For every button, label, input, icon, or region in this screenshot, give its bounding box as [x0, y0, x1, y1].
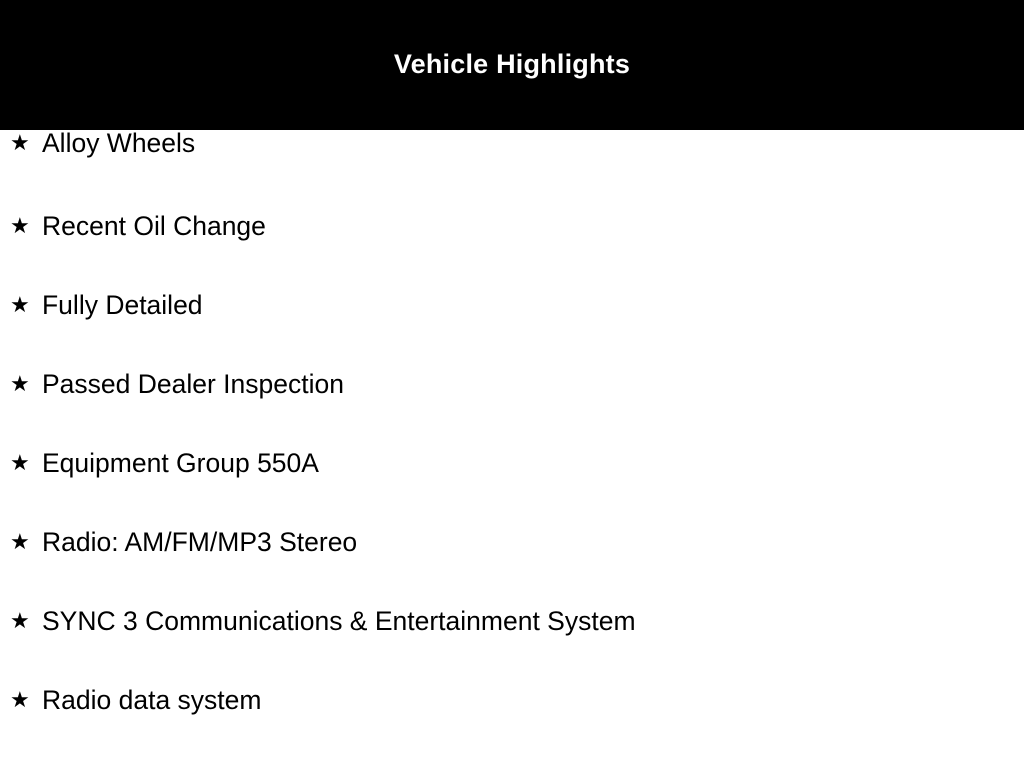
- list-item: ★ Equipment Group 550A: [0, 450, 1024, 529]
- list-item: ★ Radio: AM/FM/MP3 Stereo: [0, 529, 1024, 608]
- list-item: ★ Passed Dealer Inspection: [0, 371, 1024, 450]
- vehicle-highlights-list: ★ Alloy Wheels ★ Recent Oil Change ★ Ful…: [0, 130, 1024, 766]
- list-item: ★ Recent Oil Change: [0, 213, 1024, 292]
- list-item: ★ Fully Detailed: [0, 292, 1024, 371]
- highlight-label: Fully Detailed: [42, 292, 203, 319]
- list-item: ★ Alloy Wheels: [0, 130, 1024, 213]
- list-item: ★ SYNC 3 Communications & Entertainment …: [0, 608, 1024, 687]
- star-bullet-icon: ★: [10, 216, 42, 238]
- star-bullet-icon: ★: [10, 690, 42, 712]
- header-banner: Vehicle Highlights: [0, 0, 1024, 130]
- star-bullet-icon: ★: [10, 532, 42, 554]
- highlight-label: Equipment Group 550A: [42, 450, 319, 477]
- star-bullet-icon: ★: [10, 133, 42, 155]
- highlight-label: Radio data system: [42, 687, 261, 714]
- highlight-label: Alloy Wheels: [42, 130, 195, 157]
- highlight-label: SYNC 3 Communications & Entertainment Sy…: [42, 608, 636, 635]
- list-item: ★ Radio data system: [0, 687, 1024, 766]
- highlight-label: Recent Oil Change: [42, 213, 266, 240]
- star-bullet-icon: ★: [10, 453, 42, 475]
- highlight-label: Passed Dealer Inspection: [42, 371, 344, 398]
- star-bullet-icon: ★: [10, 611, 42, 633]
- star-bullet-icon: ★: [10, 295, 42, 317]
- vehicle-highlights-page: Vehicle Highlights ★ Alloy Wheels ★ Rece…: [0, 0, 1024, 768]
- highlight-label: Radio: AM/FM/MP3 Stereo: [42, 529, 357, 556]
- page-title: Vehicle Highlights: [394, 51, 630, 80]
- star-bullet-icon: ★: [10, 374, 42, 396]
